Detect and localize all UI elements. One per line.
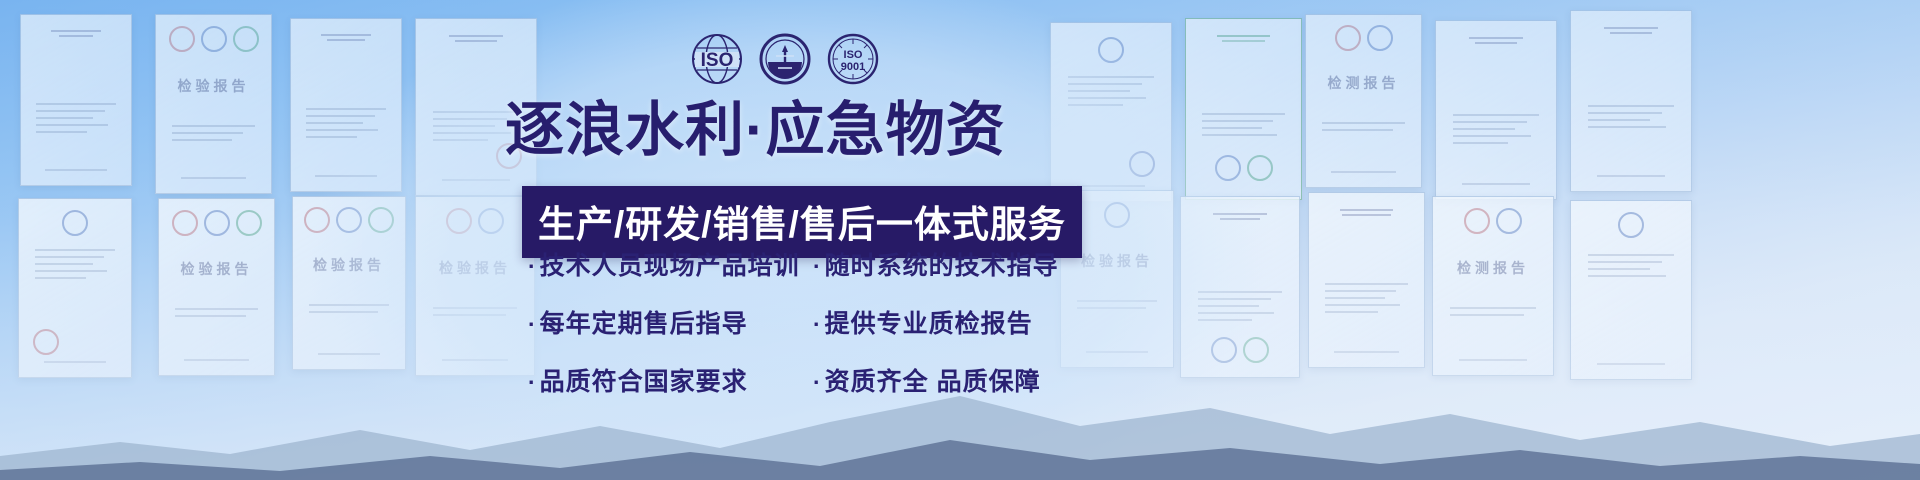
bullet-item: ·技术人员现场产品培训: [528, 246, 813, 282]
bullet-dot-icon: ·: [528, 369, 537, 395]
promo-banner: 检验报告 检测报告: [0, 0, 1920, 480]
bullet-dot-icon: ·: [813, 311, 822, 337]
bullet-item: ·资质齐全 品质保障: [813, 362, 1041, 398]
bullet-dot-icon: ·: [528, 311, 537, 337]
quality-emblem-badge: [758, 32, 812, 86]
bullet-row: ·每年定期售后指导 ·提供专业质检报告: [528, 304, 1068, 340]
bullet-label: 品质符合国家要求: [540, 368, 748, 396]
bullet-label: 提供专业质检报告: [825, 310, 1033, 338]
svg-text:9001: 9001: [841, 61, 865, 73]
iso-globe-badge: ISO: [690, 32, 744, 86]
bullet-item: ·随时系统的技术指导: [813, 246, 1059, 282]
bullet-label: 每年定期售后指导: [540, 310, 748, 338]
bullet-label: 资质齐全 品质保障: [825, 368, 1041, 396]
svg-text:ISO: ISO: [844, 49, 863, 61]
feature-bullet-list: ·技术人员现场产品培训 ·随时系统的技术指导 ·每年定期售后指导 ·提供专业质检…: [528, 246, 1068, 420]
bullet-label: 技术人员现场产品培训: [540, 252, 800, 280]
bullet-row: ·技术人员现场产品培训 ·随时系统的技术指导: [528, 246, 1068, 282]
banner-headline: 逐浪水利·应急物资: [505, 100, 1085, 162]
bullet-dot-icon: ·: [528, 253, 537, 279]
bullet-row: ·品质符合国家要求 ·资质齐全 品质保障: [528, 362, 1068, 398]
bullet-dot-icon: ·: [813, 253, 822, 279]
certification-badges: ISO: [690, 28, 880, 90]
bullet-dot-icon: ·: [813, 369, 822, 395]
bullet-item: ·每年定期售后指导: [528, 304, 813, 340]
bullet-item: ·提供专业质检报告: [813, 304, 1033, 340]
bullet-item: ·品质符合国家要求: [528, 362, 813, 398]
iso-9001-badge: ISO 9001: [826, 32, 880, 86]
svg-text:ISO: ISO: [701, 50, 734, 71]
bullet-label: 随时系统的技术指导: [825, 252, 1059, 280]
